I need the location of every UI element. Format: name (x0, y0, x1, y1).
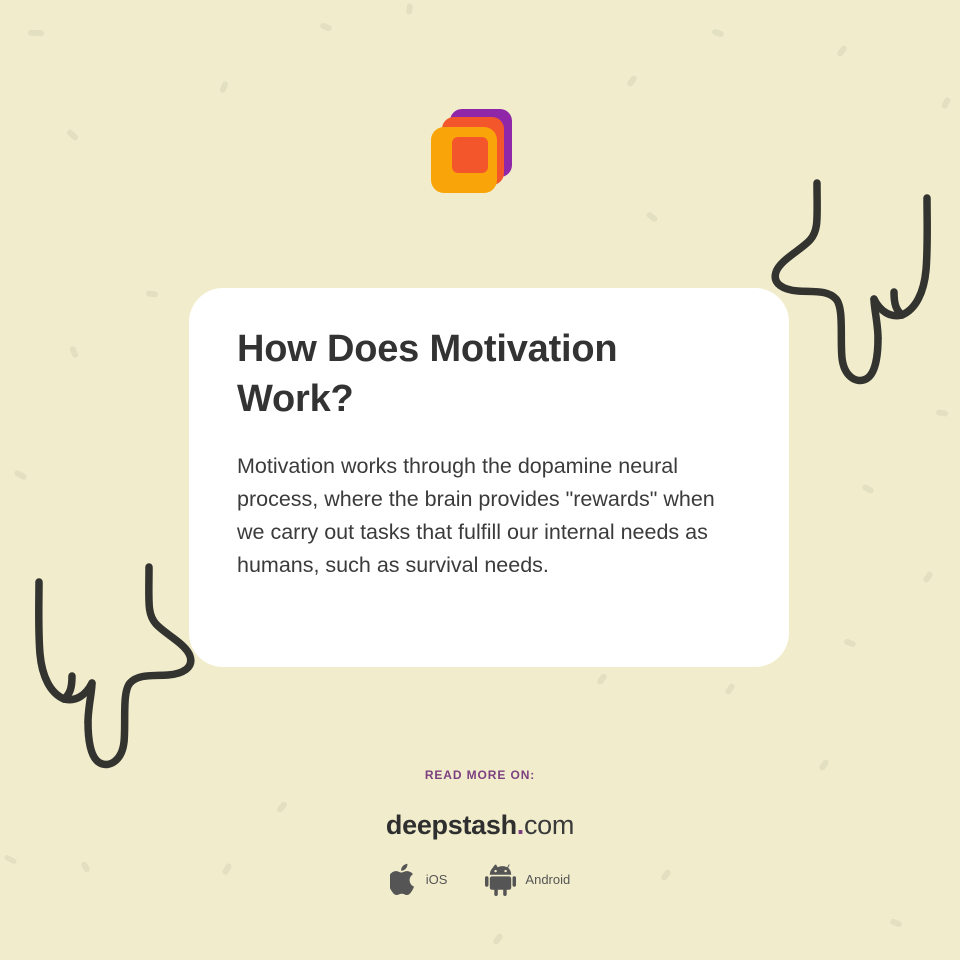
wordmark-tld: com (524, 810, 574, 840)
card-title: How Does Motivation Work? (237, 324, 667, 424)
android-label: Android (525, 872, 570, 887)
apple-icon (390, 863, 417, 896)
confetti-dash (146, 290, 159, 298)
ios-label: iOS (426, 872, 448, 887)
wordmark-name: deepstash (386, 810, 517, 840)
android-store-badge[interactable]: Android (485, 864, 570, 896)
store-badges: iOS (0, 863, 960, 896)
pointing-hand-illustration-left (24, 562, 196, 780)
android-icon (485, 864, 516, 896)
read-more-label: READ MORE ON: (0, 768, 960, 782)
confetti-dash (936, 409, 949, 417)
confetti-dash (319, 22, 332, 32)
confetti-dash (724, 682, 736, 695)
confetti-dash (28, 30, 44, 37)
confetti-dash (626, 74, 638, 87)
ios-store-badge[interactable]: iOS (390, 863, 448, 896)
wordmark-dot: . (517, 810, 524, 840)
confetti-dash (861, 483, 874, 494)
confetti-dash (69, 345, 79, 358)
confetti-dash (219, 80, 229, 93)
confetti-dash (596, 672, 608, 685)
confetti-dash (13, 469, 27, 481)
poster-canvas: How Does Motivation Work? Motivation wor… (0, 0, 960, 960)
confetti-dash (889, 918, 902, 928)
confetti-dash (711, 28, 724, 37)
content-card: How Does Motivation Work? Motivation wor… (189, 288, 789, 667)
confetti-dash (922, 570, 934, 583)
card-body-text: Motivation works through the dopamine ne… (237, 450, 737, 582)
pointing-hand-illustration-right (770, 178, 938, 392)
footer: READ MORE ON: deepstash.com iOS (0, 768, 960, 896)
confetti-dash (843, 638, 856, 648)
confetti-dash (406, 3, 413, 15)
confetti-dash (66, 128, 80, 141)
deepstash-wordmark[interactable]: deepstash.com (0, 810, 960, 841)
confetti-dash (492, 932, 504, 945)
confetti-dash (941, 96, 952, 109)
confetti-dash (645, 211, 658, 223)
confetti-dash (836, 44, 848, 57)
deepstash-logo (430, 107, 516, 195)
